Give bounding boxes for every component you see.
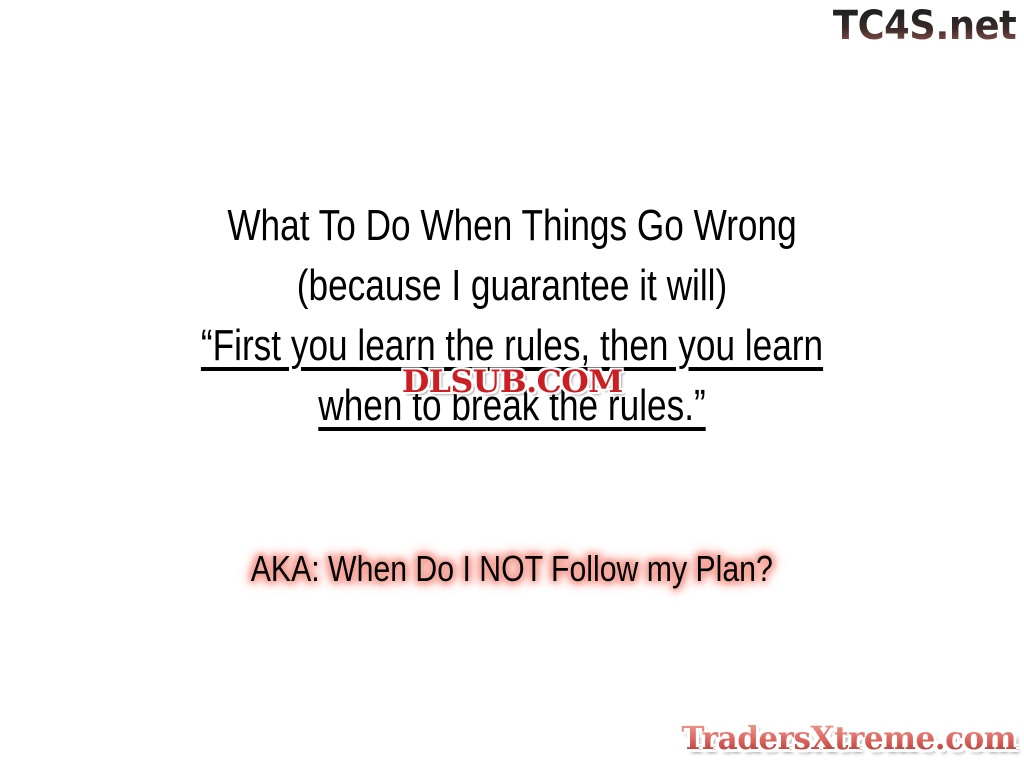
slide-canvas: TC4S.net What To Do When Things Go Wrong… [0,0,1024,768]
headline-block: What To Do When Things Go Wrong (because… [0,196,1024,436]
tc4s-logo: TC4S.net [833,2,1016,50]
headline-line-4-quote-part2: when to break the rules.” [102,376,921,436]
headline-line-3-quote-part1: “First you learn the rules, then you lea… [102,316,921,376]
aka-subline: AKA: When Do I NOT Follow my Plan? [0,546,1024,592]
tradersxtreme-logo: TradersXtreme.com TradersXtreme.com [681,718,1016,758]
headline-line-1: What To Do When Things Go Wrong [102,196,921,256]
headline-line-2: (because I guarantee it will) [102,256,921,316]
aka-subline-text: AKA: When Do I NOT Follow my Plan? [251,546,773,592]
tradersxtreme-logo-text: TradersXtreme.com [681,719,1016,757]
